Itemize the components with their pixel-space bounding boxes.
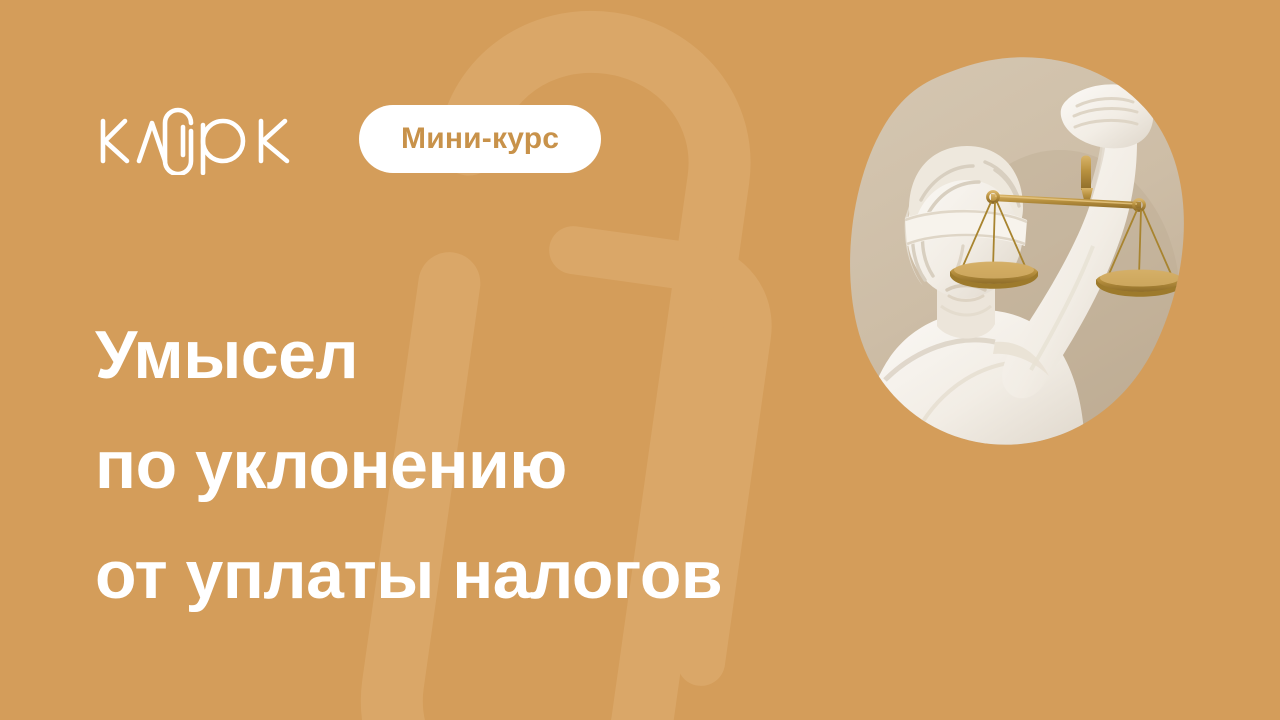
paperclip-logo-icon [165,110,191,174]
headline-line-3: от уплаты налогов [95,520,855,630]
hero-image [845,50,1190,455]
mini-course-badge-label: Мини-курс [401,124,559,154]
page-title: Умысел по уклонению от уплаты налогов [95,300,855,630]
klerk-logo[interactable] [95,103,307,175]
header-row: Мини-курс [95,103,601,175]
lady-justice-statue-icon [845,50,1190,455]
mini-course-badge[interactable]: Мини-курс [359,105,601,173]
headline-line-2: по уклонению [95,410,855,520]
slide-root: Мини-курс Умысел по уклонению от уплаты … [0,0,1280,720]
headline-line-1: Умысел [95,300,855,410]
